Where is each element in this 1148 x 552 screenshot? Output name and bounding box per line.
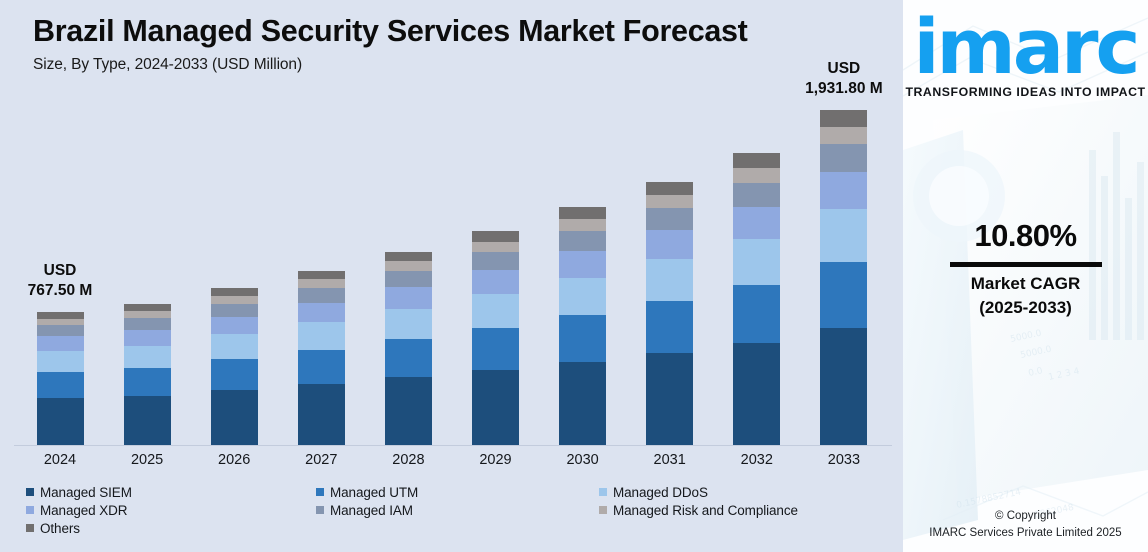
bar-segment [37,319,84,326]
bar-2025 [124,304,171,445]
bar-segment [211,390,258,445]
bar-segment [820,110,867,127]
x-axis-label-2031: 2031 [625,452,715,468]
bar-segment [472,370,519,445]
bar-segment [124,396,171,445]
bar-segment [646,208,693,230]
bar-segment [37,351,84,372]
bar-2031 [646,182,693,445]
bar-segment [211,288,258,296]
bar-segment [298,288,345,303]
legend-swatch-icon [316,506,324,514]
bar-2029 [472,231,519,445]
bar-segment [124,368,171,396]
bar-segment [559,219,606,231]
bar-segment [472,328,519,370]
bar-segment [820,262,867,328]
bar-2032 [733,153,780,445]
bar-segment [646,230,693,259]
bar-2026 [211,288,258,445]
bar-segment [559,251,606,277]
copyright-line-1: © Copyright [903,508,1148,525]
bar-segment [472,270,519,294]
bar-segment [472,252,519,270]
bar-segment [472,231,519,242]
legend-item-label: Managed Risk and Compliance [613,503,798,518]
bar-segment [559,231,606,251]
x-axis-label-2026: 2026 [189,452,279,468]
bar-segment [820,209,867,262]
cagr-divider [950,262,1102,267]
cagr-callout: 10.80% Market CAGR (2025-2033) [903,218,1148,318]
legend-swatch-icon [26,488,34,496]
bar-segment [559,362,606,445]
legend-swatch-icon [599,488,607,496]
legend-item-managed-utm[interactable]: Managed UTM [316,483,599,501]
legend-item-managed-iam[interactable]: Managed IAM [316,501,599,519]
plot-area: 2024202520262027202820292030203120322033 [0,0,903,552]
bar-segment [646,182,693,195]
bar-segment [559,278,606,316]
x-axis-label-2033: 2033 [799,452,889,468]
bar-segment [124,304,171,311]
bar-segment [211,296,258,304]
bar-segment [733,239,780,285]
bar-segment [385,287,432,308]
bar-2028 [385,252,432,445]
legend-item-managed-ddos[interactable]: Managed DDoS [599,483,886,501]
start-currency-label: USD [0,261,125,281]
legend-spacer [599,519,886,537]
legend-item-managed-siem[interactable]: Managed SIEM [26,483,316,501]
x-axis-label-2029: 2029 [451,452,541,468]
bar-2030 [559,207,606,445]
bar-segment [646,259,693,301]
legend-swatch-icon [26,506,34,514]
legend-item-label: Managed UTM [330,485,418,500]
bar-segment [37,336,84,351]
x-axis-label-2028: 2028 [363,452,453,468]
x-axis-label-2032: 2032 [712,452,802,468]
start-value-label: 767.50 M [0,281,125,301]
legend-swatch-icon [599,506,607,514]
legend-item-label: Managed IAM [330,503,413,518]
bar-segment [37,325,84,336]
bar-segment [559,207,606,219]
bar-segment [124,346,171,368]
x-axis-label-2024: 2024 [15,452,105,468]
bar-segment [211,317,258,334]
bar-segment [820,144,867,172]
bar-segment [472,242,519,253]
legend-item-managed-risk-and-compliance[interactable]: Managed Risk and Compliance [599,501,886,519]
legend-item-managed-xdr[interactable]: Managed XDR [26,501,316,519]
bar-segment [733,153,780,168]
end-currency-label: USD [779,59,909,79]
bar-segment [385,339,432,377]
bar-segment [298,350,345,384]
copyright-notice: © Copyright IMARC Services Private Limit… [903,508,1148,543]
bar-segment [298,322,345,350]
bar-segment [385,309,432,340]
x-axis-label-2030: 2030 [538,452,628,468]
legend-item-label: Others [40,521,80,536]
brand-panel: 5000.0 0.0 1 2 3 4 0.1578852714 0862048 … [903,0,1148,552]
bar-segment [646,195,693,208]
bar-segment [733,168,780,183]
bar-2033 [820,110,867,445]
bar-segment [37,398,84,445]
chart-screenshot: Brazil Managed Security Services Market … [0,0,1148,552]
bar-segment [733,207,780,239]
chart-panel: Brazil Managed Security Services Market … [0,0,903,552]
bar-segment [298,303,345,322]
cagr-period: (2025-2033) [903,298,1148,318]
cagr-value: 10.80% [903,218,1148,254]
legend-item-others[interactable]: Others [26,519,316,537]
bar-segment [37,312,84,319]
start-value-annotation: USD 767.50 M [0,261,125,301]
x-axis-label-2027: 2027 [276,452,366,468]
bar-segment [385,252,432,262]
cagr-label: Market CAGR [903,274,1148,294]
bar-segment [124,318,171,330]
bar-segment [733,343,780,445]
chart-legend: Managed SIEMManaged UTMManaged DDoSManag… [26,483,886,537]
x-axis-line [14,445,892,446]
legend-swatch-icon [316,488,324,496]
bar-segment [385,377,432,445]
bar-segment [385,271,432,287]
bar-segment [733,285,780,343]
imarc-logo-wordmark: imarc [903,14,1148,81]
bar-segment [124,330,171,346]
end-value-label: 1,931.80 M [779,79,909,99]
bar-segment [733,183,780,207]
bar-segment [646,353,693,445]
bar-segment [298,271,345,280]
bar-2027 [298,271,345,445]
bar-segment [37,372,84,398]
legend-item-label: Managed XDR [40,503,127,518]
legend-swatch-icon [26,524,34,532]
bar-segment [472,294,519,328]
bar-segment [559,315,606,362]
legend-item-label: Managed DDoS [613,485,708,500]
end-value-annotation: USD 1,931.80 M [779,59,909,99]
bar-segment [124,311,171,318]
bar-segment [820,172,867,209]
bar-segment [298,384,345,445]
bar-segment [211,304,258,317]
bar-segment [820,328,867,445]
bar-segment [298,279,345,288]
bar-segment [211,359,258,390]
imarc-logo: imarc TRANSFORMING IDEAS INTO IMPACT [903,14,1148,99]
copyright-line-2: IMARC Services Private Limited 2025 [903,525,1148,542]
legend-spacer [316,519,599,537]
x-axis-label-2025: 2025 [102,452,192,468]
bar-segment [820,127,867,144]
legend-item-label: Managed SIEM [40,485,132,500]
bar-2024 [37,312,84,445]
bar-segment [646,301,693,353]
bar-segment [211,334,258,359]
imarc-tagline: TRANSFORMING IDEAS INTO IMPACT [903,85,1148,99]
bar-segment [385,261,432,271]
